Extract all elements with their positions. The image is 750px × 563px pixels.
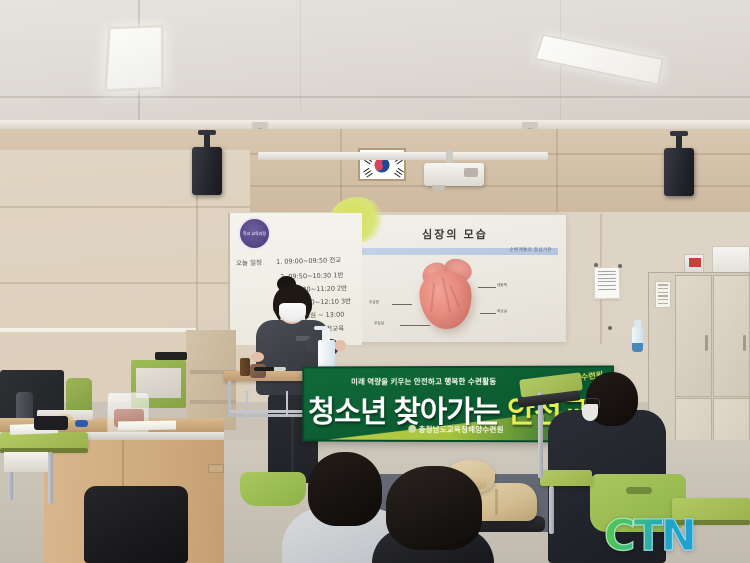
podium-label-plate bbox=[208, 464, 224, 473]
wall-speaker-right bbox=[664, 148, 694, 196]
pin-right bbox=[618, 264, 622, 268]
hand-sanitizer-shelf bbox=[632, 327, 643, 352]
heart-label-4: 우심실 bbox=[374, 321, 384, 326]
whiteboard-line-0: 오늘 일정 bbox=[236, 257, 262, 268]
emergency-box bbox=[684, 254, 704, 273]
whiteboard-line-1: 1. 09:00~09:50 전교 bbox=[276, 254, 341, 266]
ceiling bbox=[0, 0, 750, 133]
student-front-left-head bbox=[308, 452, 382, 526]
student-right-mask bbox=[582, 404, 598, 421]
heart-illustration bbox=[416, 259, 478, 331]
projector bbox=[424, 163, 484, 186]
classroom-photo: 심장의 모습 순환계통의 중심기관 대동맥 우심방 좌심실 우심실 학교 교육과… bbox=[0, 0, 750, 563]
desk-left-leg-2 bbox=[48, 452, 53, 504]
slide-accent-bar: 순환계통의 중심기관 bbox=[352, 248, 558, 255]
locker-handle-2[interactable] bbox=[743, 335, 746, 351]
student-front-right-head bbox=[386, 466, 482, 550]
desk-right-2 bbox=[540, 470, 592, 486]
heart-label-3: 좌심실 bbox=[497, 309, 507, 314]
sprinkler-left bbox=[252, 122, 268, 129]
banner-subtitle: 미래 역량을 키우는 안전하고 행복한 수련활동 bbox=[351, 376, 496, 387]
wall-notice-paper bbox=[594, 267, 621, 299]
storage-bin-top bbox=[712, 246, 750, 275]
heart-label-1: 대동맥 bbox=[497, 283, 507, 288]
desk-left-black-object bbox=[34, 416, 68, 430]
lectern-leg-left bbox=[246, 391, 248, 417]
wall-speaker-left bbox=[192, 147, 222, 195]
whiteboard-marker[interactable] bbox=[254, 367, 286, 371]
locker-vent-label bbox=[655, 281, 671, 308]
organization-logo-icon bbox=[409, 425, 417, 433]
pin-left bbox=[594, 263, 598, 267]
projection-screen: 심장의 모습 순환계통의 중심기관 대동맥 우심방 좌심실 우심실 bbox=[344, 215, 566, 342]
presenter-hand-left bbox=[251, 352, 264, 362]
banner-org-text: 충청남도교육청해양수련원 bbox=[419, 425, 504, 434]
presenter-hand-right bbox=[334, 340, 346, 351]
ceiling-rail bbox=[0, 120, 750, 129]
ceiling-light-panel-right bbox=[534, 34, 664, 86]
chair-left-rear[interactable] bbox=[240, 472, 306, 506]
school-emblem-text: 학교 교육과정 bbox=[243, 231, 266, 236]
desk-black-device bbox=[155, 352, 187, 360]
ceiling-light-panel-left bbox=[104, 25, 164, 93]
backpack bbox=[84, 486, 188, 563]
blue-stationery bbox=[75, 420, 88, 427]
chair-right-1-slot bbox=[626, 487, 652, 494]
desk-papers bbox=[118, 420, 176, 430]
school-emblem: 학교 교육과정 bbox=[238, 217, 271, 250]
slide-subtitle: 순환계통의 중심기관 bbox=[509, 247, 552, 253]
ctn-watermark: CTN bbox=[604, 511, 695, 561]
face-mask bbox=[279, 303, 306, 322]
locker-handle-1[interactable] bbox=[705, 335, 708, 351]
brown-bottle bbox=[240, 358, 250, 376]
slide-title: 심장의 모습 bbox=[344, 226, 566, 242]
lectern-leg-mid bbox=[286, 391, 288, 417]
projector-lens bbox=[432, 185, 445, 191]
desk-leg-right bbox=[549, 486, 554, 534]
desk-left-books bbox=[4, 452, 48, 472]
sprinkler-right bbox=[522, 122, 538, 129]
heart-label-2: 우심방 bbox=[369, 300, 379, 305]
wall-rail bbox=[258, 152, 548, 160]
pin-lower bbox=[608, 326, 612, 330]
